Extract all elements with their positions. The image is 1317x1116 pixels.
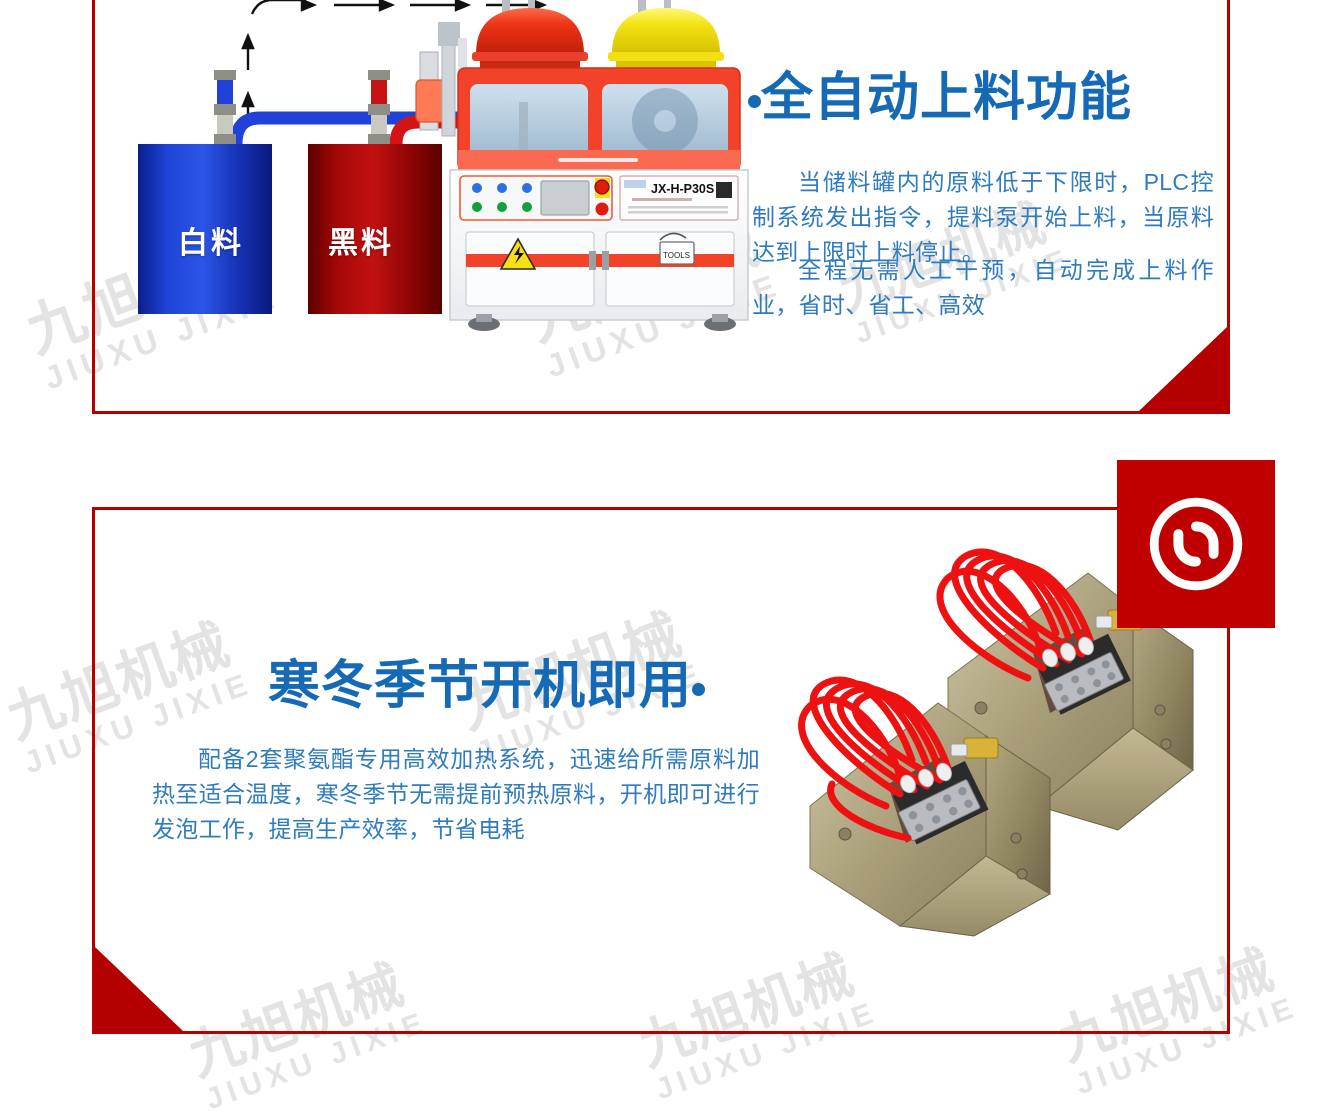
product-detail-page: 九旭机械 JIUXU JIXIE 九旭机械 JIUXU JIXIE 九旭机械 J… xyxy=(0,0,1317,1038)
section1-paragraph-2-text: 全程无需人工干预，自动完成上料作业，省时、省工、高效 xyxy=(752,257,1214,318)
section2-paragraph-1-text: 配备2套聚氨酯专用高效加热系统，迅速给所需原料加热至适合温度，寒冬季节无需提前预… xyxy=(152,746,760,842)
section2-heading-text: 寒冬季节开机即用 xyxy=(268,657,692,715)
bullet-dot-icon xyxy=(692,683,705,696)
foaming-machine: JX-H-P30S TOOLS xyxy=(450,0,748,331)
bullet-dot-icon xyxy=(748,95,761,108)
machine-model-text: JX-H-P30S xyxy=(651,182,714,196)
section2-paragraph-1: 配备2套聚氨酯专用高效加热系统，迅速给所需原料加热至适合温度，寒冬季节无需提前预… xyxy=(152,742,760,847)
brand-logo-badge xyxy=(1117,460,1275,628)
mixer-wheel-graphic xyxy=(632,88,698,154)
section1-heading-text: 全自动上料功能 xyxy=(761,69,1132,127)
corner-triangle-decor xyxy=(1139,327,1227,411)
black-material-drum-label: 黑料 xyxy=(328,218,394,262)
circular-s-recycle-icon xyxy=(1141,489,1251,599)
white-material-drum-label: 白料 xyxy=(178,218,244,262)
section2-heading-row: 寒冬季节开机即用 xyxy=(268,660,705,712)
machine-nameplate: JX-H-P30S xyxy=(620,176,738,220)
tools-label-text: TOOLS xyxy=(663,251,690,260)
machine-control-panel xyxy=(460,176,612,220)
section1-paragraph-2: 全程无需人工干预，自动完成上料作业，省时、省工、高效 xyxy=(752,253,1214,323)
left-tank-dome xyxy=(472,0,588,69)
auto-feeding-diagram: JX-H-P30S TOOLS xyxy=(120,0,760,342)
section1-heading-row: 全自动上料功能 xyxy=(748,72,1132,124)
machine-window xyxy=(470,84,588,158)
right-tank-dome xyxy=(608,0,724,69)
section1-paragraph-1-text: 当储料罐内的原料低于下限时，PLC控制系统发出指令，提料泵开始上料，当原料达到上… xyxy=(752,169,1214,265)
corner-triangle-decor xyxy=(95,947,183,1031)
